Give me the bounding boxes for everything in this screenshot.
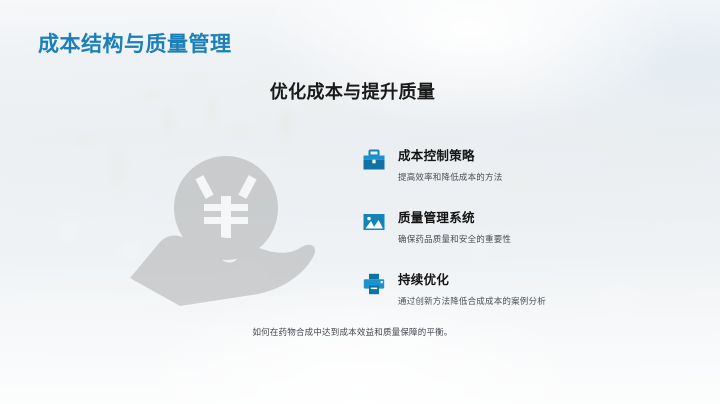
feature-list: 成本控制策略 提高效率和降低成本的方法 质量管理系统 确保药品质量和安全的重要性 xyxy=(362,147,692,333)
toolbox-icon xyxy=(362,148,386,172)
list-item-title: 持续优化 xyxy=(398,273,449,287)
main-heading: 优化成本与提升质量 xyxy=(180,78,525,104)
printer-icon xyxy=(362,272,386,296)
list-item-description: 提高效率和降低成本的方法 xyxy=(398,171,692,183)
page-title: 成本结构与质量管理 xyxy=(38,28,232,58)
list-item-description: 通过创新方法降低合成成本的案例分析 xyxy=(398,295,692,307)
list-item[interactable]: 持续优化 通过创新方法降低合成成本的案例分析 xyxy=(362,271,692,311)
list-item[interactable]: 成本控制策略 提高效率和降低成本的方法 xyxy=(362,147,692,187)
image-picture-icon xyxy=(362,210,386,234)
list-item-title: 质量管理系统 xyxy=(398,211,475,225)
footer-note: 如何在药物合成中达到成本效益和质量保障的平衡。 xyxy=(180,326,525,338)
list-item-title: 成本控制策略 xyxy=(398,149,475,163)
list-item[interactable]: 质量管理系统 确保药品质量和安全的重要性 xyxy=(362,209,692,249)
hand-holding-yen-coin-icon xyxy=(118,138,328,308)
list-item-description: 确保药品质量和安全的重要性 xyxy=(398,233,692,245)
presentation-slide: 成本结构与质量管理 优化成本与提升质量 成本控制策略 提高效率和降低成本的方法 xyxy=(0,0,720,404)
